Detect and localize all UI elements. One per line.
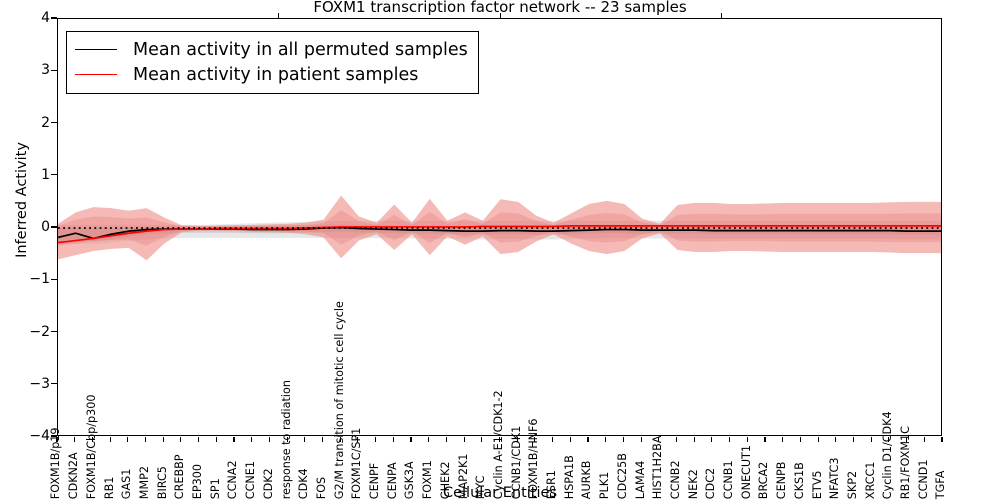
legend-swatch (75, 74, 117, 75)
y-tick-mark (51, 383, 57, 384)
x-tick-mark (676, 437, 677, 442)
x-tick-mark (711, 437, 712, 442)
legend-swatch (75, 49, 117, 50)
top-tick-mark (500, 13, 501, 18)
x-tick-mark (552, 437, 553, 442)
y-tick-mark (51, 435, 57, 436)
x-tick-mark (481, 437, 482, 442)
x-tick-mark (428, 437, 429, 442)
top-tick-mark (721, 13, 722, 18)
y-tick-mark (51, 279, 57, 280)
x-tick-mark (180, 437, 181, 442)
legend-entry: Mean activity in patient samples (75, 62, 468, 87)
x-tick-mark (587, 437, 588, 442)
chart-figure: FOXM1 transcription factor network -- 23… (0, 0, 1000, 500)
legend-label: Mean activity in patient samples (133, 65, 418, 85)
y-tick-mark (51, 17, 57, 18)
legend-entry: Mean activity in all permuted samples (75, 37, 468, 62)
x-tick-mark (446, 437, 447, 442)
x-tick-mark (145, 437, 146, 442)
y-tick-label: 4 (4, 10, 50, 26)
x-tick-mark (623, 437, 624, 442)
x-tick-mark (110, 437, 111, 442)
x-tick-label: FOXM1B/Cbp/p300 (86, 394, 97, 499)
x-tick-mark (198, 437, 199, 442)
y-tick-mark (51, 70, 57, 71)
legend-label: Mean activity in all permuted samples (133, 40, 468, 60)
x-tick-mark (605, 437, 606, 442)
x-tick-mark (233, 437, 234, 442)
x-tick-mark (941, 437, 942, 442)
x-tick-mark (322, 437, 323, 442)
y-tick-mark (51, 226, 57, 227)
x-tick-mark (251, 437, 252, 442)
y-tick-mark (51, 122, 57, 123)
x-tick-mark (464, 437, 465, 442)
x-tick-mark (818, 437, 819, 442)
x-axis-label: Cellular Entities (0, 485, 1000, 501)
x-tick-mark (853, 437, 854, 442)
x-tick-mark (163, 437, 164, 442)
y-tick-label: −2 (4, 324, 50, 340)
x-tick-mark (800, 437, 801, 442)
x-tick-mark (747, 437, 748, 442)
x-tick-mark (410, 437, 411, 442)
x-tick-label: Cyclin A-E1/CDK1-2 (493, 390, 504, 499)
x-tick-mark (729, 437, 730, 442)
top-tick-mark (278, 13, 279, 18)
x-tick-mark (375, 437, 376, 442)
y-tick-mark (51, 331, 57, 332)
x-tick-mark (127, 437, 128, 442)
x-tick-mark (393, 437, 394, 442)
x-tick-mark (924, 437, 925, 442)
x-tick-mark (835, 437, 836, 442)
y-axis-label: Inferred Activity (14, 100, 30, 300)
x-tick-label: response to radiation (280, 380, 291, 499)
x-tick-mark (782, 437, 783, 442)
x-tick-mark (216, 437, 217, 442)
x-tick-label: G2/M transition of mitotic cell cycle (333, 301, 344, 499)
y-tick-label: −4 (4, 428, 50, 444)
y-tick-mark (51, 174, 57, 175)
y-tick-label: 3 (4, 62, 50, 78)
x-tick-mark (570, 437, 571, 442)
x-tick-mark (269, 437, 270, 442)
y-tick-label: −3 (4, 376, 50, 392)
chart-legend: Mean activity in all permuted samplesMea… (66, 31, 479, 94)
x-tick-mark (871, 437, 872, 442)
x-tick-mark (764, 437, 765, 442)
x-tick-mark (694, 437, 695, 442)
x-tick-mark (641, 437, 642, 442)
x-tick-mark (74, 437, 75, 442)
x-tick-mark (304, 437, 305, 442)
